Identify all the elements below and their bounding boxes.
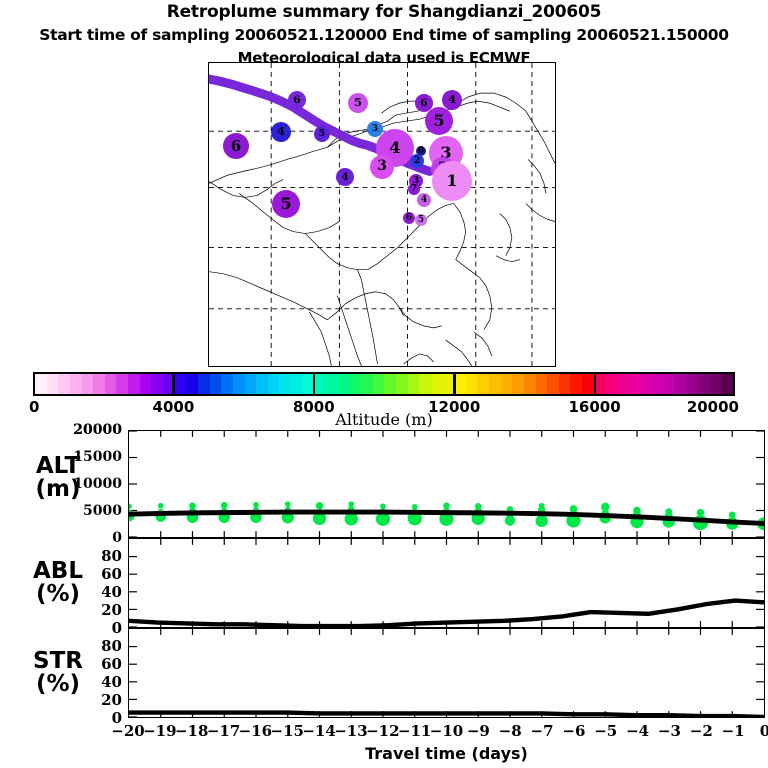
map-cluster-marker[interactable]: 5: [348, 93, 368, 113]
x-tick--4: −4: [626, 722, 649, 740]
colorbar-cell-32: [408, 374, 420, 394]
y-tick-ALT-10000: 10000: [26, 476, 122, 492]
colorbar-cell-50: [617, 374, 629, 394]
colorbar-cell-44: [547, 374, 559, 394]
colorbar-cell-19: [256, 374, 268, 394]
colorbar-cell-10: [151, 374, 163, 394]
colorbar-cell-21: [279, 374, 291, 394]
colorbar-divider-8000: [313, 372, 316, 396]
colorbar-cell-18: [245, 374, 257, 394]
abl-plot[interactable]: [128, 538, 765, 628]
colorbar-cell-12: [175, 374, 187, 394]
x-tick--5: −5: [594, 722, 617, 740]
y-tick-STR-0: 0: [26, 709, 122, 727]
alt-plot[interactable]: [128, 430, 765, 538]
colorbar-cell-2: [58, 374, 70, 394]
x-tick--8: −8: [499, 722, 522, 740]
colorbar-cell-36: [454, 374, 466, 394]
y-tick-ABL-60: 60: [26, 565, 122, 583]
colorbar-cell-57: [699, 374, 711, 394]
x-tick--19: −19: [143, 722, 176, 740]
map-cluster-marker[interactable]: 6: [403, 212, 415, 224]
x-tick--10: −10: [430, 722, 463, 740]
map-cluster-marker[interactable]: 4: [442, 90, 462, 110]
colorbar-cell-42: [524, 374, 536, 394]
x-tick--3: −3: [658, 722, 681, 740]
colorbar-divider-4000: [172, 372, 175, 396]
colorbar-cell-29: [373, 374, 385, 394]
map-cluster-marker[interactable]: 3: [370, 155, 394, 179]
colorbar-cell-9: [140, 374, 152, 394]
colorbar-cell-46: [570, 374, 582, 394]
x-tick--12: −12: [366, 722, 399, 740]
colorbar-cell-13: [186, 374, 198, 394]
y-tick-STR-80: 80: [26, 637, 122, 655]
map-cluster-marker[interactable]: 6: [223, 133, 249, 159]
colorbar-cell-5: [93, 374, 105, 394]
map-cluster-marker[interactable]: 2: [410, 154, 424, 168]
colorbar-cell-30: [384, 374, 396, 394]
colorbar-cell-3: [70, 374, 82, 394]
y-tick-ABL-0: 0: [26, 619, 122, 637]
x-axis-label: Travel time (days): [128, 744, 765, 763]
x-tick--1: −1: [722, 722, 745, 740]
colorbar-cell-6: [105, 374, 117, 394]
x-tick--11: −11: [398, 722, 431, 740]
colorbar-tick-8000: 8000: [293, 398, 335, 416]
x-tick--15: −15: [271, 722, 304, 740]
map-cluster-marker[interactable]: 5: [272, 190, 300, 218]
map-cluster-marker[interactable]: 5: [425, 107, 453, 135]
y-tick-ABL-80: 80: [26, 547, 122, 565]
map-cluster-marker[interactable]: 1: [432, 161, 472, 201]
colorbar-cell-20: [268, 374, 280, 394]
colorbar-cell-8: [128, 374, 140, 394]
colorbar-divider-12000: [453, 372, 456, 396]
x-tick--20: −20: [111, 722, 144, 740]
abl-graphics: [129, 539, 764, 627]
y-tick-STR-20: 20: [26, 691, 122, 709]
colorbar-tick-16000: 16000: [569, 398, 621, 416]
colorbar-cell-33: [419, 374, 431, 394]
y-tick-ALT-20000: 20000: [26, 422, 122, 438]
colorbar-cell-52: [640, 374, 652, 394]
colorbar-cell-40: [501, 374, 513, 394]
colorbar-cell-16: [221, 374, 233, 394]
y-tick-ABL-20: 20: [26, 601, 122, 619]
colorbar-cell-53: [652, 374, 664, 394]
map-cluster-marker[interactable]: 4: [336, 168, 354, 186]
y-tick-STR-40: 40: [26, 673, 122, 691]
colorbar-cell-45: [559, 374, 571, 394]
map-cluster-marker[interactable]: 6: [288, 91, 306, 109]
y-tick-ALT-15000: 15000: [26, 449, 122, 465]
colorbar-cell-17: [233, 374, 245, 394]
colorbar-cell-43: [536, 374, 548, 394]
map-cluster-marker[interactable]: 5: [415, 214, 427, 226]
str-plot[interactable]: [128, 628, 765, 718]
map-cluster-marker[interactable]: 7: [408, 183, 420, 195]
x-tick--9: −9: [467, 722, 490, 740]
colorbar-cell-25: [326, 374, 338, 394]
colorbar-cell-54: [664, 374, 676, 394]
colorbar-cell-56: [687, 374, 699, 394]
colorbar-cell-49: [605, 374, 617, 394]
colorbar-cell-55: [675, 374, 687, 394]
colorbar-cell-14: [198, 374, 210, 394]
map-graphics: [209, 63, 555, 366]
colorbar-cell-58: [710, 374, 722, 394]
colorbar-cell-41: [512, 374, 524, 394]
x-tick-0: 0: [760, 722, 768, 740]
str-graphics: [129, 629, 764, 717]
colorbar-cell-27: [349, 374, 361, 394]
colorbar-cell-38: [477, 374, 489, 394]
colorbar-cell-24: [314, 374, 326, 394]
map-cluster-marker[interactable]: 4: [271, 122, 291, 142]
x-tick--18: −18: [175, 722, 208, 740]
altitude-colorbar[interactable]: [33, 372, 735, 396]
colorbar-tick-0: 0: [29, 398, 39, 416]
colorbar-cell-26: [338, 374, 350, 394]
map-cluster-marker[interactable]: 4: [417, 193, 431, 207]
colorbar-cell-4: [82, 374, 94, 394]
colorbar-cell-59: [722, 374, 734, 394]
colorbar-cell-39: [489, 374, 501, 394]
colorbar-divider-16000: [594, 372, 597, 396]
x-tick--2: −2: [690, 722, 713, 740]
y-tick-ABL-40: 40: [26, 583, 122, 601]
alt-graphics: [129, 431, 764, 537]
colorbar-cell-15: [210, 374, 222, 394]
retroplume-map[interactable]: 665455364543402323137465: [208, 62, 556, 367]
x-tick--14: −14: [302, 722, 335, 740]
colorbar-cell-0: [35, 374, 47, 394]
x-tick--17: −17: [207, 722, 240, 740]
colorbar-cell-7: [116, 374, 128, 394]
x-tick--13: −13: [334, 722, 367, 740]
colorbar-cell-51: [629, 374, 641, 394]
y-tick-ALT-0: 0: [26, 530, 122, 546]
colorbar-cell-31: [396, 374, 408, 394]
x-tick--6: −6: [562, 722, 585, 740]
colorbar-tick-20000: 20000: [687, 398, 739, 416]
y-tick-STR-60: 60: [26, 655, 122, 673]
colorbar-cell-47: [582, 374, 594, 394]
sampling-times: Start time of sampling 20060521.120000 E…: [0, 26, 768, 44]
colorbar-cell-37: [466, 374, 478, 394]
colorbar-cell-34: [431, 374, 443, 394]
colorbar-cell-28: [361, 374, 373, 394]
colorbar-cell-1: [47, 374, 59, 394]
colorbar-tick-12000: 12000: [428, 398, 480, 416]
y-tick-ALT-5000: 5000: [26, 503, 122, 519]
colorbar-cell-22: [291, 374, 303, 394]
colorbar-tick-4000: 4000: [153, 398, 195, 416]
x-tick--7: −7: [531, 722, 554, 740]
map-cluster-marker[interactable]: 5: [314, 126, 330, 142]
x-tick--16: −16: [239, 722, 272, 740]
page-title: Retroplume summary for Shangdianzi_20060…: [0, 2, 768, 22]
